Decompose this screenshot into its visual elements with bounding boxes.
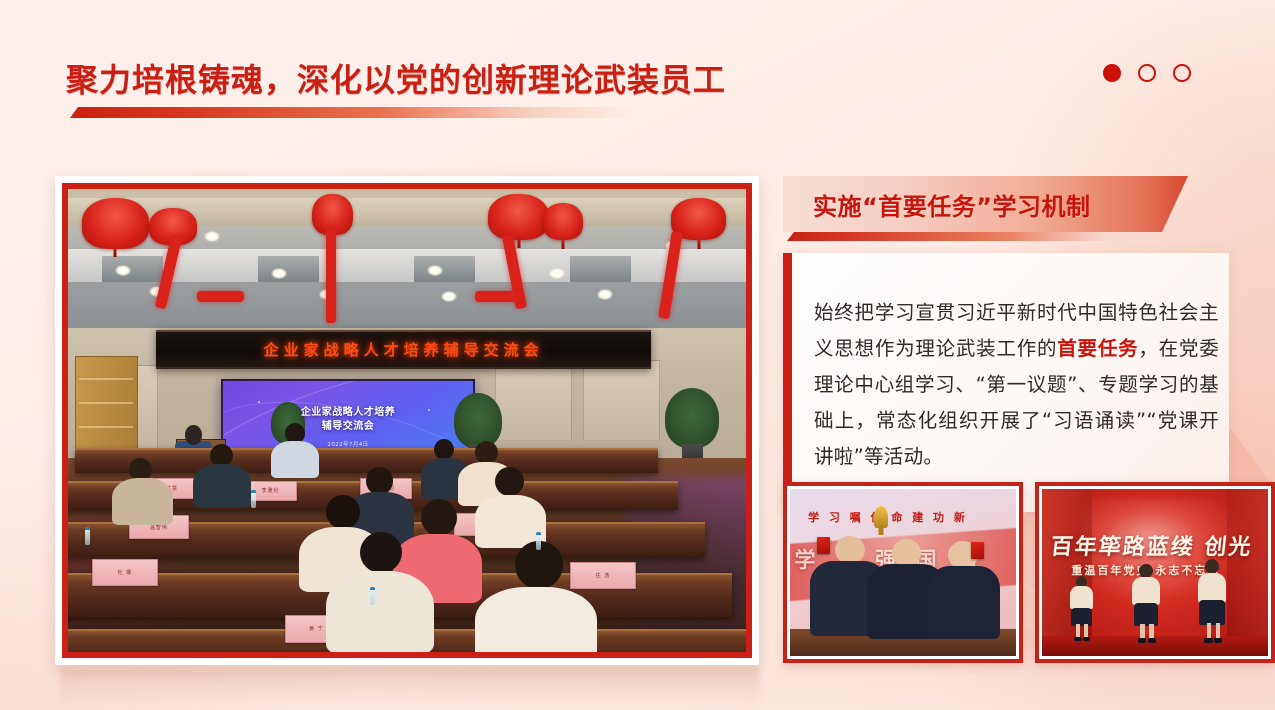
pagination-dots[interactable] — [1103, 64, 1191, 82]
chorus-backdrop-headline: 百年筚路蓝缕 创光 — [1049, 529, 1268, 561]
red-garland-strand — [197, 291, 244, 303]
performer-legs — [1140, 624, 1145, 639]
body-text-highlight: 首要任务 — [1057, 337, 1138, 360]
ceiling-vent — [258, 256, 319, 281]
water-bottle — [370, 587, 375, 605]
wall-panel — [583, 360, 660, 441]
water-bottle — [85, 527, 90, 545]
red-garland-strand — [475, 291, 522, 303]
page-title: 聚力培根铸魂，深化以党的创新理论武装员工 — [66, 55, 726, 101]
performer-legs — [1084, 624, 1088, 637]
desk-row — [75, 448, 658, 473]
section-body-card: 始终把学习宣贯习近平新时代中国特色社会主义思想作为理论武装工作的首要任务，在党委… — [783, 253, 1229, 512]
performer-shoe — [1083, 637, 1090, 641]
led-banner: 企业家战略人才培养辅导交流会 — [156, 330, 651, 369]
thumbnail-award-ceremony[interactable]: 学 习 嘱 使 命 建 功 新 学 习 强 国 知 — [783, 482, 1023, 663]
attendee-body — [326, 571, 434, 652]
attendee-body — [271, 441, 318, 478]
title-underline-rule — [70, 107, 635, 118]
section-title-underline — [787, 232, 1142, 241]
attendee-body — [475, 587, 597, 652]
potted-plant — [454, 393, 501, 449]
ceiling-spotlight — [597, 289, 613, 300]
ceiling-vent — [570, 256, 631, 281]
red-knot-decoration — [543, 203, 584, 240]
performer-head — [1205, 559, 1219, 574]
name-placard: 杜 娜 — [92, 559, 158, 586]
ceiling-vent — [414, 256, 475, 281]
section-title-banner: 实施“首要任务”学习机制 — [783, 176, 1188, 232]
performer-shoe — [1214, 638, 1223, 643]
performer-shoe — [1148, 638, 1156, 642]
trophy-icon — [874, 506, 888, 528]
potted-plant — [665, 388, 719, 448]
wall-panel — [495, 360, 572, 441]
water-bottle — [251, 490, 256, 508]
performer-skirt — [1071, 608, 1091, 626]
thumbnail-chorus-stage-image: 百年筚路蓝缕 创光 重温百年党史 永志不忘初 — [1042, 489, 1268, 656]
pagination-dot-1-active[interactable] — [1103, 64, 1121, 82]
award-person-head — [835, 536, 864, 564]
speaker-person-head — [185, 425, 203, 444]
attendee-body — [112, 478, 173, 524]
attendee-head — [366, 467, 393, 495]
performer-legs — [1076, 624, 1080, 637]
performer-shoe — [1074, 637, 1081, 641]
performer-skirt — [1199, 600, 1225, 625]
performer-legs — [1216, 623, 1221, 639]
attendee-head — [326, 495, 360, 530]
performer-top — [1198, 573, 1226, 603]
red-knot-decoration — [82, 198, 150, 249]
ceiling-spotlight — [549, 268, 565, 279]
performer-top — [1070, 586, 1093, 609]
ceiling-spotlight — [204, 231, 220, 242]
red-garland-strand — [326, 226, 337, 323]
name-placard: 任 浩 — [570, 562, 636, 589]
performer-legs — [1207, 623, 1212, 639]
main-photo: 企业家战略人才培养辅导交流会 企业家战略人才培养 辅导交流会 2022年7月4日 — [62, 183, 752, 658]
performer-legs — [1149, 624, 1154, 639]
thumbnail-chorus-stage[interactable]: 百年筚路蓝缕 创光 重温百年党史 永志不忘初 — [1035, 482, 1275, 663]
screen-title-line1: 企业家战略人才培养 — [301, 406, 396, 420]
thumbnail-award-ceremony-image: 学 习 嘱 使 命 建 功 新 学 习 强 国 知 — [790, 489, 1016, 656]
attendee-head — [210, 444, 233, 467]
screen-date: 2022年7月4日 — [327, 440, 368, 448]
honor-certificate — [971, 542, 984, 559]
conference-room-scene: 企业家战略人才培养辅导交流会 企业家战略人才培养 辅导交流会 2022年7月4日 — [68, 189, 746, 652]
ceiling-vent — [102, 256, 163, 281]
section-title: 实施“首要任务”学习机制 — [813, 187, 1091, 222]
performer-skirt — [1134, 603, 1159, 626]
attendee-head — [421, 499, 458, 536]
award-backdrop-headline: 学 习 嘱 使 命 建 功 新 — [808, 509, 1011, 525]
photo-reflection — [60, 668, 760, 708]
section-body-text: 始终把学习宣贯习近平新时代中国特色社会主义思想作为理论武装工作的首要任务，在党委… — [814, 295, 1219, 475]
performer-shoe — [1204, 638, 1213, 643]
ceiling-spotlight — [441, 291, 457, 302]
ceiling-spotlight — [271, 268, 287, 279]
pagination-dot-2[interactable] — [1138, 64, 1156, 82]
attendee-head — [360, 532, 402, 574]
performer-top — [1132, 577, 1159, 605]
honor-certificate — [817, 537, 830, 554]
attendee-body — [193, 464, 251, 508]
thumbnail-gallery: 学 习 嘱 使 命 建 功 新 学 习 强 国 知 — [783, 482, 1275, 663]
award-person-suit — [928, 566, 1000, 639]
pagination-dot-3[interactable] — [1173, 64, 1191, 82]
attendee-head — [129, 458, 152, 481]
water-bottle — [536, 532, 541, 550]
main-photo-frame: 企业家战略人才培养辅导交流会 企业家战略人才培养 辅导交流会 2022年7月4日 — [55, 176, 759, 665]
right-content-column: 实施“首要任务”学习机制 始终把学习宣贯习近平新时代中国特色社会主义思想作为理论… — [783, 176, 1233, 512]
led-banner-text: 企业家战略人才培养辅导交流会 — [264, 339, 544, 360]
screen-title-line2: 辅导交流会 — [322, 420, 375, 434]
slide-header: 聚力培根铸魂，深化以党的创新理论武装员工 — [0, 0, 1275, 150]
attendee-head — [495, 467, 523, 496]
red-knot-decoration — [488, 194, 549, 240]
performer-shoe — [1138, 638, 1146, 642]
chorus-backdrop-subline: 重温百年党史 永志不忘初 — [1071, 562, 1268, 578]
slide-root: 聚力培根铸魂，深化以党的创新理论武装员工 — [0, 0, 1275, 710]
